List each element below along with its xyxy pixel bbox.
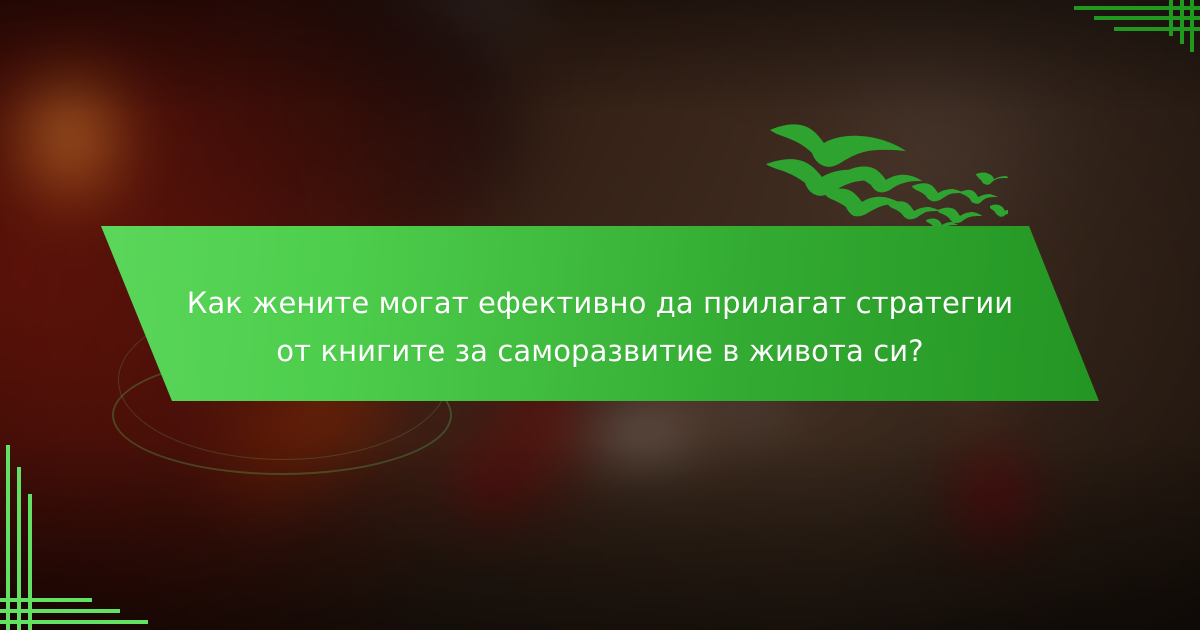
- headline-line-2: от книгите за саморазвитие в живота си?: [276, 331, 923, 372]
- bird-flock-icon: [762, 118, 1008, 230]
- headline-line-1: Как жените могат ефективно да прилагат с…: [187, 283, 1013, 324]
- headline-text: Как жените могат ефективно да прилагат с…: [0, 226, 1200, 401]
- social-share-card: Как жените могат ефективно да прилагат с…: [0, 0, 1200, 630]
